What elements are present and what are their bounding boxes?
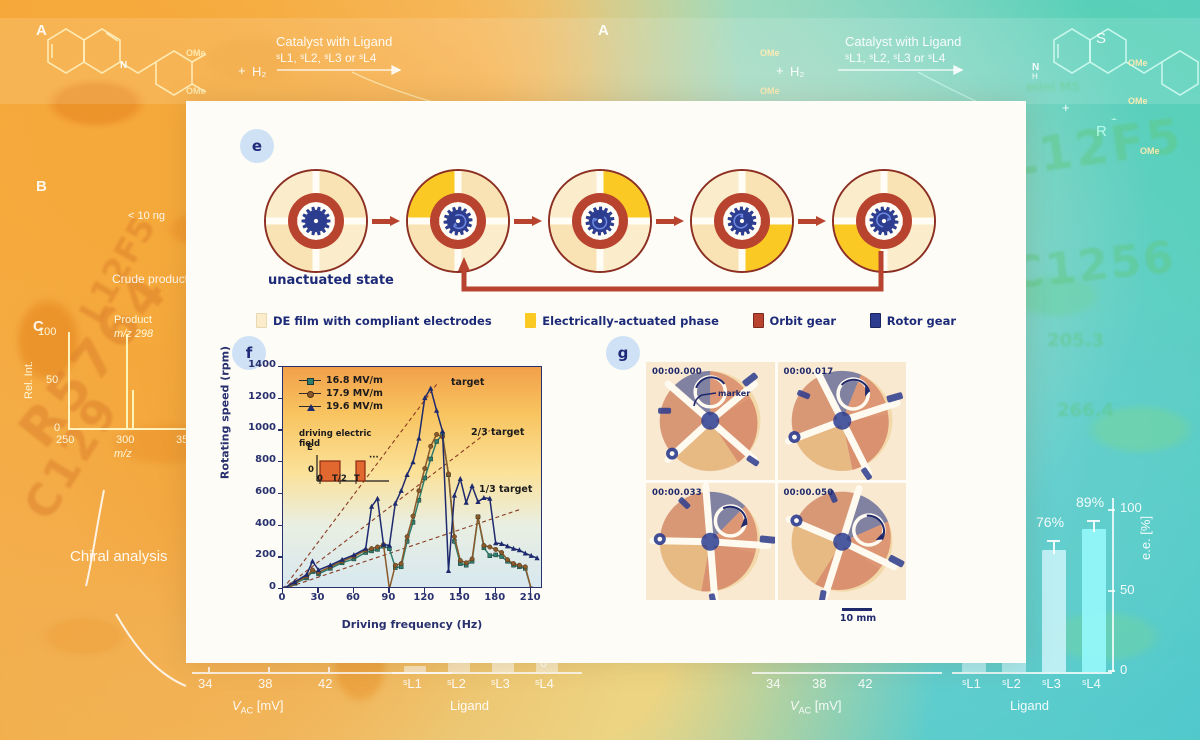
legend-swatch-de-film: [256, 313, 267, 328]
vac-ticklabel-38-right: 38: [812, 676, 826, 691]
transition-arrow-1: [372, 216, 400, 226]
series-marker: [470, 483, 475, 488]
chart-legend-marker-square: [307, 378, 314, 385]
chart-legend-marker-triangle: [307, 404, 315, 411]
ligand-ticklabel-l1-right: ˢL1: [962, 676, 981, 691]
inset-ellipsis: ···: [369, 453, 379, 463]
chart-xtick-mark-120: [424, 588, 425, 593]
chart-ytick-800: 800: [196, 454, 276, 465]
series-marker: [416, 436, 421, 441]
series-marker: [375, 496, 380, 501]
frame-cell-1: 00:00.000marker: [646, 362, 775, 480]
legend-swatch-rotor-gear: [870, 313, 881, 328]
chart-ytick-600: 600: [196, 486, 276, 497]
series-marker: [446, 568, 451, 573]
legend-item-actuated-phase: Electrically-actuated phase: [525, 313, 719, 328]
series-marker: [363, 546, 368, 551]
series-marker: [283, 587, 285, 588]
chart-xtick-mark-0: [282, 588, 283, 593]
series-marker: [310, 568, 314, 572]
ms-ytick-100: 100: [38, 326, 56, 338]
ligand-axis-label-left: Ligand: [450, 698, 489, 713]
frame-cell-3: 00:00.033: [646, 483, 775, 601]
gear-stage-3: [548, 169, 652, 273]
legend-label-de-film: DE film with compliant electrodes: [273, 314, 492, 328]
arrow-shaft: [656, 219, 675, 224]
chart-ytick-400: 400: [196, 518, 276, 529]
series-marker: [405, 535, 409, 539]
frame-image-3: [646, 483, 775, 601]
series-marker: [310, 558, 315, 563]
series-marker: [517, 563, 521, 567]
ee-bar-l3-right: [1042, 550, 1066, 672]
chart-legend: 16.8 MV/m 17.9 MV/m 19.6 MV/m: [299, 375, 383, 414]
ligand-ticklabel-l2-right: ˢL2: [1002, 676, 1021, 691]
annotation-target: target: [451, 377, 484, 388]
vac-ticklabel-34-right: 34: [766, 676, 780, 691]
arrow-shaft: [798, 219, 817, 224]
arrow-head: [532, 216, 542, 226]
series-marker: [488, 545, 492, 549]
figure-panel: e unactuated state DE film with complian…: [186, 101, 1026, 663]
frame-timestamp-2: 00:00.017: [784, 367, 834, 377]
panel-f: f Rotating speed (rpm) Driving frequency…: [196, 346, 596, 646]
ms-ylabel: Rel. Int.: [23, 361, 35, 399]
chart-xtick-mark-210: [530, 588, 531, 593]
inset-xtick-0: 0: [317, 474, 323, 484]
unactuated-state-label: unactuated state: [268, 273, 394, 288]
crude-product-label: Crude product: [112, 272, 188, 286]
chart-legend-marker-circle: [307, 391, 314, 398]
transition-arrow-4: [798, 216, 826, 226]
series-marker: [458, 476, 463, 481]
panel-e: e unactuated state DE film with complian…: [186, 101, 1026, 341]
frame-timestamp-4: 00:00.050: [784, 488, 834, 498]
ee-errorbar-l3: [1053, 540, 1055, 554]
series-marker: [423, 466, 427, 470]
series-marker: [417, 489, 421, 493]
chart-legend-row-2: 19.6 MV/m: [299, 401, 383, 412]
scale-bar-line: [842, 608, 872, 611]
vac-ticklabel-34-left: 34: [198, 676, 212, 691]
frame-timestamp-1: 00:00.000: [652, 367, 702, 377]
transition-arrow-2: [514, 216, 542, 226]
ghost-text-right-3: 205.3: [1047, 330, 1104, 351]
chart-ytick-1200: 1200: [196, 391, 276, 402]
vac-tick-42-left: [328, 667, 330, 672]
ms-xtick-300: 300: [116, 434, 134, 446]
chart-xtick-90: 90: [371, 592, 405, 603]
ms-annotation-mz: m/z 298: [114, 328, 153, 340]
frame-timestamp-3: 00:00.033: [652, 488, 702, 498]
series-marker: [494, 553, 498, 557]
chart-xtick-210: 210: [513, 592, 547, 603]
ligand-ticklabel-l2-left: ˢL2: [447, 676, 466, 691]
series-marker: [405, 472, 410, 477]
ee-bar-l1-left: [404, 666, 426, 672]
series-marker: [446, 472, 450, 476]
panel-g: g 00:00.000marker00:00.01700:00.03300:00…: [606, 346, 1016, 646]
chart-xtick-180: 180: [478, 592, 512, 603]
series-marker: [511, 561, 515, 565]
ee-tick-100: [1108, 509, 1115, 511]
panel-b-label: B: [36, 178, 47, 195]
series-marker: [393, 563, 397, 567]
series-marker: [458, 558, 462, 562]
legend-swatch-orbit-gear: [753, 313, 764, 328]
arrow-shaft: [372, 219, 391, 224]
annotation-one-third-target: 1/3 target: [479, 484, 532, 495]
chart-legend-label-1: 17.9 MV/m: [326, 388, 383, 399]
inset-xtick-t2: T/2: [332, 474, 347, 484]
arrow-head: [816, 216, 826, 226]
chart-legend-line-1: [299, 393, 321, 394]
vac-ticklabel-38-left: 38: [258, 676, 272, 691]
series-marker: [369, 546, 373, 550]
series-marker: [452, 493, 457, 498]
ligand-ticklabel-l3-left: ˢL3: [491, 676, 510, 691]
series-marker: [464, 561, 468, 565]
ee-tick-50: [1108, 590, 1115, 592]
rotor-gear-body: [301, 206, 332, 237]
series-marker: [428, 386, 433, 391]
frame-cell-2: 00:00.017: [778, 362, 907, 480]
series-marker: [488, 554, 492, 558]
de-film-disc: [264, 169, 368, 273]
chart-xtick-120: 120: [407, 592, 441, 603]
scale-bar-label: 10 mm: [828, 613, 888, 624]
chart-ytick-1000: 1000: [196, 422, 276, 433]
marker-leader-line: [646, 362, 774, 480]
chart-xtick-60: 60: [336, 592, 370, 603]
ms-annotation-product: Product: [114, 314, 152, 326]
series-marker: [470, 557, 474, 561]
ee-value-label-l3: 76%: [1036, 514, 1064, 530]
ligand-ticklabel-l4-right: ˢL4: [1082, 676, 1101, 691]
legend-item-de-film: DE film with compliant electrodes: [256, 313, 492, 328]
inset-ylabel-e: E: [307, 443, 313, 453]
series-marker: [411, 514, 415, 518]
series-marker: [375, 545, 379, 549]
ee-errorcap-l3: [1047, 540, 1060, 542]
series-marker: [387, 587, 391, 588]
series-marker: [429, 444, 433, 448]
chart-xtick-mark-60: [353, 588, 354, 593]
vac-axis-label-right: VAC [mV]: [790, 698, 842, 716]
chart-xtick-mark-150: [459, 588, 460, 593]
arrow-shaft: [514, 219, 533, 224]
chart-xtick-mark-180: [495, 588, 496, 593]
chart-legend-row-1: 17.9 MV/m: [299, 388, 383, 399]
chart-legend-line-2: [299, 406, 321, 407]
ee-bar-l4-right: [1082, 529, 1106, 672]
ee-ticklabel-0: 0: [1120, 662, 1127, 677]
gear-stage-4: [690, 169, 794, 273]
chart-ytick-0: 0: [196, 581, 276, 592]
de-film-disc: [548, 169, 652, 273]
inset-xtick-t: T: [354, 474, 360, 484]
ee-yaxis-right: [1112, 498, 1114, 672]
ee-axis-label-right: e.e. [%]: [1138, 516, 1153, 560]
series-marker: [440, 428, 445, 433]
rotor-gear: [301, 206, 332, 237]
frame-image-4: [778, 483, 907, 601]
series-marker: [476, 515, 480, 519]
ee-value-label-l4: 89%: [1076, 494, 1104, 510]
ee-tick-0: [1108, 670, 1115, 672]
ee-errorcap-l4: [1087, 520, 1100, 522]
vac-ticklabel-42-left: 42: [318, 676, 332, 691]
ee-xaxis-right: [952, 672, 1112, 674]
gear-stage-2: [406, 169, 510, 273]
vac-ticklabel-42-right: 42: [858, 676, 872, 691]
series-marker: [494, 547, 498, 551]
chart-ytick-1400: 1400: [196, 359, 276, 370]
series-marker: [529, 587, 533, 588]
frame-image-2: [778, 362, 907, 480]
ms-peak-minor: [132, 390, 134, 428]
chart-xtick-0: 0: [265, 592, 299, 603]
ms-peak-main: [126, 334, 128, 428]
series-marker: [482, 543, 486, 547]
chart-xtick-mark-90: [388, 588, 389, 593]
ms-ytick-50: 50: [46, 374, 58, 386]
legend-label-orbit-gear: Orbit gear: [770, 314, 837, 328]
transition-arrow-3: [656, 216, 684, 226]
vac-tick-38-left: [268, 667, 270, 672]
gear-stage-1: [264, 169, 368, 273]
arrow-head: [390, 216, 400, 226]
de-film-disc: [832, 169, 936, 273]
gear-stage-5: [832, 169, 936, 273]
series-marker: [464, 500, 469, 505]
series-marker: [452, 535, 456, 539]
ligand-ticklabel-l1-left: ˢL1: [403, 676, 422, 691]
chart-plot-area: 16.8 MV/m 17.9 MV/m 19.6 MV/m driving el…: [282, 366, 542, 588]
chart-xtick-150: 150: [442, 592, 476, 603]
ligand-ticklabel-l3-right: ˢL3: [1042, 676, 1061, 691]
legend-item-orbit-gear: Orbit gear: [753, 313, 837, 328]
ee-ticklabel-50: 50: [1120, 582, 1134, 597]
de-film-disc: [406, 169, 510, 273]
high-speed-frame-grid: 00:00.000marker00:00.01700:00.03300:00.0…: [646, 362, 906, 600]
chart-xtick-30: 30: [300, 592, 334, 603]
ng-amount-label: < 10 ng: [128, 210, 165, 222]
series-marker: [410, 459, 415, 464]
de-film-disc: [690, 169, 794, 273]
ligand-axis-line-left: [392, 672, 582, 674]
ms-ytick-0: 0: [54, 422, 60, 434]
series-marker: [499, 550, 503, 554]
legend-label-rotor-gear: Rotor gear: [887, 314, 956, 328]
series-marker: [505, 558, 509, 562]
series-marker: [434, 432, 438, 436]
series-marker: [435, 440, 439, 444]
chart-legend-label-0: 16.8 MV/m: [326, 375, 383, 386]
chemistry-scheme-band: [0, 18, 1200, 104]
chart-inset-driving-field: driving electric field E 0 0 T/2 T ···: [299, 429, 395, 479]
legend-swatch-actuated-phase: [525, 313, 536, 328]
legend-label-actuated-phase: Electrically-actuated phase: [542, 314, 719, 328]
series-marker: [523, 565, 527, 569]
inset-title: driving electric field: [299, 429, 395, 449]
series-marker: [399, 561, 403, 565]
panel-e-legend: DE film with compliant electrodes Electr…: [256, 313, 956, 328]
ghost-text-right-4: 266.4: [1057, 400, 1114, 421]
chart-ytick-200: 200: [196, 549, 276, 560]
inset-ylabel-0: 0: [308, 465, 314, 475]
ms-xtick-250: 250: [56, 434, 74, 446]
annotation-two-thirds-target: 2/3 target: [471, 427, 524, 438]
vac-tick-34-left: [208, 667, 210, 672]
vac-axis-label-left: VAC [mV]: [232, 698, 284, 716]
ms-y-axis: [68, 332, 70, 428]
ms-xlabel: m/z: [114, 448, 132, 460]
ee-errorbar-l4: [1093, 520, 1095, 532]
panel-g-tag: g: [606, 336, 640, 370]
vac-axis-line-right: [752, 672, 942, 674]
series-marker: [434, 408, 439, 413]
panel-e-tag: e: [240, 129, 274, 163]
ligand-axis-label-right: Ligand: [1010, 698, 1049, 713]
ligand-ticklabel-l4-left: ˢL4: [535, 676, 554, 691]
chart-legend-line-0: [299, 380, 321, 381]
series-marker: [399, 488, 404, 493]
chart-xtick-mark-30: [317, 588, 318, 593]
chart-xlabel: Driving frequency (Hz): [282, 618, 542, 631]
frame-cell-4: 00:00.050: [778, 483, 907, 601]
series-marker: [429, 457, 433, 461]
arrow-head: [674, 216, 684, 226]
ee-bar-l1-right: [962, 663, 986, 672]
ee-ticklabel-100: 100: [1120, 500, 1142, 515]
ee-bar-l2-left: [448, 662, 470, 672]
legend-item-rotor-gear: Rotor gear: [870, 313, 956, 328]
chart-legend-row-0: 16.8 MV/m: [299, 375, 383, 386]
chart-legend-label-2: 19.6 MV/m: [326, 401, 383, 412]
marker-annotation-label: marker: [718, 389, 750, 398]
